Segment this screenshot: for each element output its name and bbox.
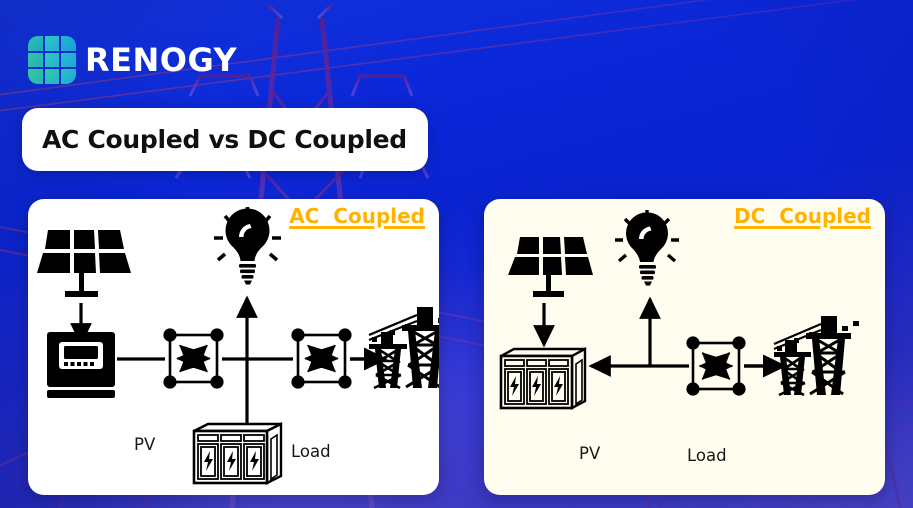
pv-inverter-icon: [47, 332, 115, 398]
page-title: AC Coupled vs DC Coupled: [42, 125, 407, 154]
transmission-tower-icon: [774, 316, 859, 395]
meter-icon: [163, 328, 223, 388]
renogy-grid-logo-icon: [28, 36, 76, 84]
light-bulb-icon: [214, 207, 281, 285]
transmission-tower-icon: [369, 307, 439, 388]
battery-cabinet-icon: [501, 349, 585, 408]
title-pill: AC Coupled vs DC Coupled: [22, 108, 428, 171]
brand-logo[interactable]: RENOGY: [28, 36, 237, 84]
panel-ac-coupled: AC Coupled: [28, 199, 439, 495]
solar-panel-icon: [508, 237, 593, 297]
light-bulb-icon: [615, 210, 679, 286]
solar-panel-icon: [37, 230, 131, 297]
dc-label-pv: PV: [579, 443, 600, 465]
ac-label-load: Load: [291, 441, 331, 463]
ac-label-pv: PV: [134, 434, 155, 456]
ac-coupled-diagram: [28, 199, 439, 495]
panel-dc-coupled: DC Coupled: [484, 199, 885, 495]
brand-name: RENOGY: [85, 41, 237, 79]
dc-label-load: Load: [687, 445, 727, 467]
slide-root: RENOGY AC Coupled vs DC Coupled AC Coupl…: [0, 0, 913, 508]
meter-icon: [686, 336, 745, 395]
battery-cabinet-icon: [194, 424, 281, 483]
dc-coupled-diagram: [484, 199, 885, 495]
meter-icon: [291, 328, 351, 388]
